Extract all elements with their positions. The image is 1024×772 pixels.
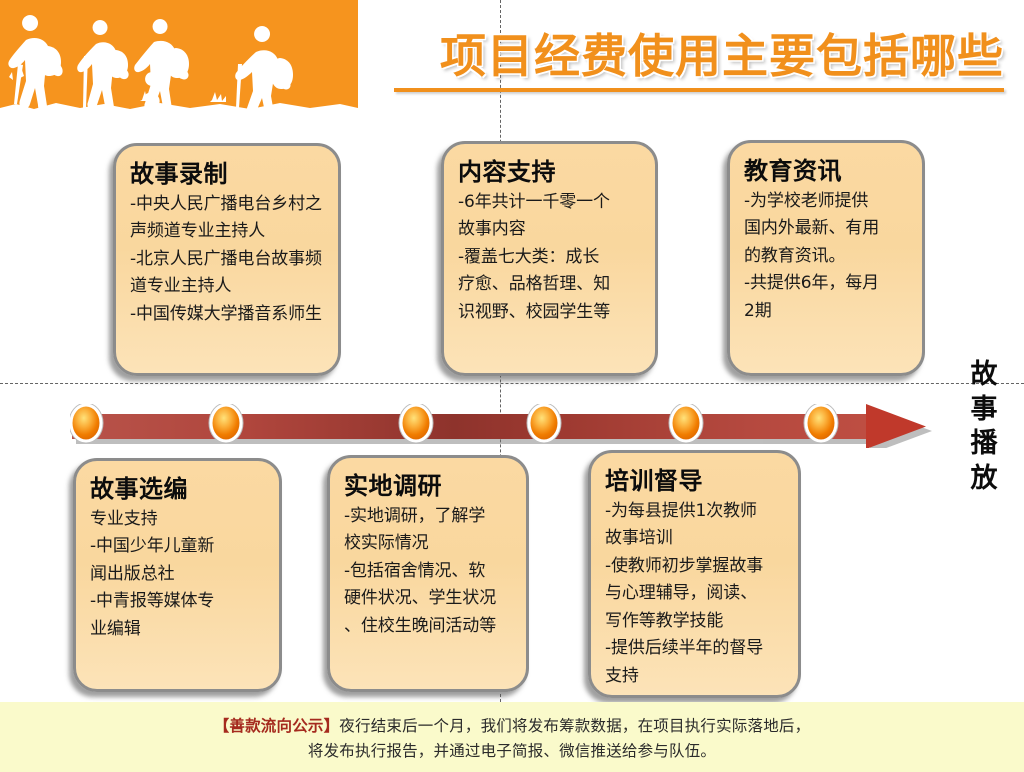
card-body: 专业支持 -中国少年儿童新 闻出版总社 -中青报等媒体专 业编辑 [90,506,267,644]
card-line: -包括宿舍情况、软 [344,558,514,586]
card-line: 国内外最新、有用 [744,215,910,243]
card-education-news[interactable]: 教育资讯 -为学校老师提供 国内外最新、有用 的教育资讯。 -共提供6年，每月 … [727,140,925,376]
vertical-label-char: 放 [963,462,1005,497]
card-line: 闻出版总社 [90,561,267,589]
card-title: 培训督导 [605,467,786,496]
vertical-label-char: 事 [963,393,1005,428]
card-title: 故事录制 [130,160,326,189]
card-body: -为学校老师提供 国内外最新、有用 的教育资讯。 -共提供6年，每月 2期 [744,188,910,326]
vertical-label-char: 故 [963,358,1005,393]
card-line: 专业支持 [90,506,267,534]
card-story-recording[interactable]: 故事录制 -中央人民广播电台乡村之 声频道专业主持人 -北京人民广播电台故事频 … [113,143,341,376]
timeline-vertical-label: 故 事 播 放 [963,358,1005,496]
title-underline [394,88,1004,92]
timeline-arrow [70,404,954,448]
card-line: -提供后续半年的督导 [605,635,786,663]
card-line: -为每县提供1次教师 [605,498,786,526]
card-line: -中青报等媒体专 [90,588,267,616]
card-line: -覆盖七大类：成长 [458,244,643,272]
vertical-label-char: 播 [963,427,1005,462]
footer-band: 【善款流向公示】夜行结束后一个月，我们将发布筹款数据，在项目执行实际落地后， 将… [0,702,1024,772]
card-content-support[interactable]: 内容支持 -6年共计一千零一个 故事内容 -覆盖七大类：成长 疗愈、品格哲理、知… [441,141,658,376]
footer-text-1: 夜行结束后一个月，我们将发布筹款数据，在项目执行实际落地后， [339,717,810,735]
card-line: -中国传媒大学播音系师生 [130,301,326,329]
card-body: -为每县提供1次教师 故事培训 -使教师初步掌握故事 与心理辅导，阅读、 写作等… [605,498,786,691]
card-line: 硬件状况、学生状况 [344,585,514,613]
card-story-selection[interactable]: 故事选编 专业支持 -中国少年儿童新 闻出版总社 -中青报等媒体专 业编辑 [73,458,282,692]
card-training-supervision[interactable]: 培训督导 -为每县提供1次教师 故事培训 -使教师初步掌握故事 与心理辅导，阅读… [588,450,801,698]
card-line: 2期 [744,298,910,326]
card-line: 业编辑 [90,616,267,644]
card-body: -6年共计一千零一个 故事内容 -覆盖七大类：成长 疗愈、品格哲理、知 识视野、… [458,189,643,327]
card-line: 与心理辅导，阅读、 [605,580,786,608]
header-banner [0,0,358,118]
footer-tag: 【善款流向公示】 [214,717,340,735]
card-line: -实地调研，了解学 [344,503,514,531]
card-line: 故事培训 [605,525,786,553]
slide-canvas: 项目经费使用主要包括哪些 故事录制 -中央人民广播电台乡村之 声频道专业主持人 … [0,0,1024,772]
card-line: -共提供6年，每月 [744,270,910,298]
card-line: -中央人民广播电台乡村之 [130,191,326,219]
card-title: 实地调研 [344,472,514,501]
card-title: 故事选编 [90,475,267,504]
card-body: -中央人民广播电台乡村之 声频道专业主持人 -北京人民广播电台故事频 道专业主持… [130,191,326,329]
page-title: 项目经费使用主要包括哪些 [372,32,1004,80]
card-line: 校实际情况 [344,530,514,558]
card-line: 的教育资讯。 [744,243,910,271]
card-field-research[interactable]: 实地调研 -实地调研，了解学 校实际情况 -包括宿舍情况、软 硬件状况、学生状况… [327,455,529,692]
card-line: -6年共计一千零一个 [458,189,643,217]
right-arrow-icon [70,404,954,448]
card-line: 支持 [605,663,786,691]
card-line: 写作等教学技能 [605,608,786,636]
card-line: 识视野、校园学生等 [458,299,643,327]
footer-line-2: 将发布执行报告，并通过电子简报、微信推送给参与队伍。 [0,739,1024,764]
card-line: -中国少年儿童新 [90,533,267,561]
card-line: 疗愈、品格哲理、知 [458,271,643,299]
card-line: 道专业主持人 [130,273,326,301]
page-title-wrap: 项目经费使用主要包括哪些 [372,32,1004,92]
card-line: -使教师初步掌握故事 [605,553,786,581]
card-title: 内容支持 [458,158,643,187]
horizontal-guide-line [0,383,1024,384]
card-line: 声频道专业主持人 [130,218,326,246]
card-line: -为学校老师提供 [744,188,910,216]
card-line: -北京人民广播电台故事频 [130,246,326,274]
card-body: -实地调研，了解学 校实际情况 -包括宿舍情况、软 硬件状况、学生状况 、住校生… [344,503,514,641]
card-title: 教育资讯 [744,157,910,186]
hikers-silhouette-icon [0,0,358,118]
card-line: 、住校生晚间活动等 [344,613,514,641]
footer-line-1: 【善款流向公示】夜行结束后一个月，我们将发布筹款数据，在项目执行实际落地后， [0,714,1024,739]
card-line: 故事内容 [458,216,643,244]
